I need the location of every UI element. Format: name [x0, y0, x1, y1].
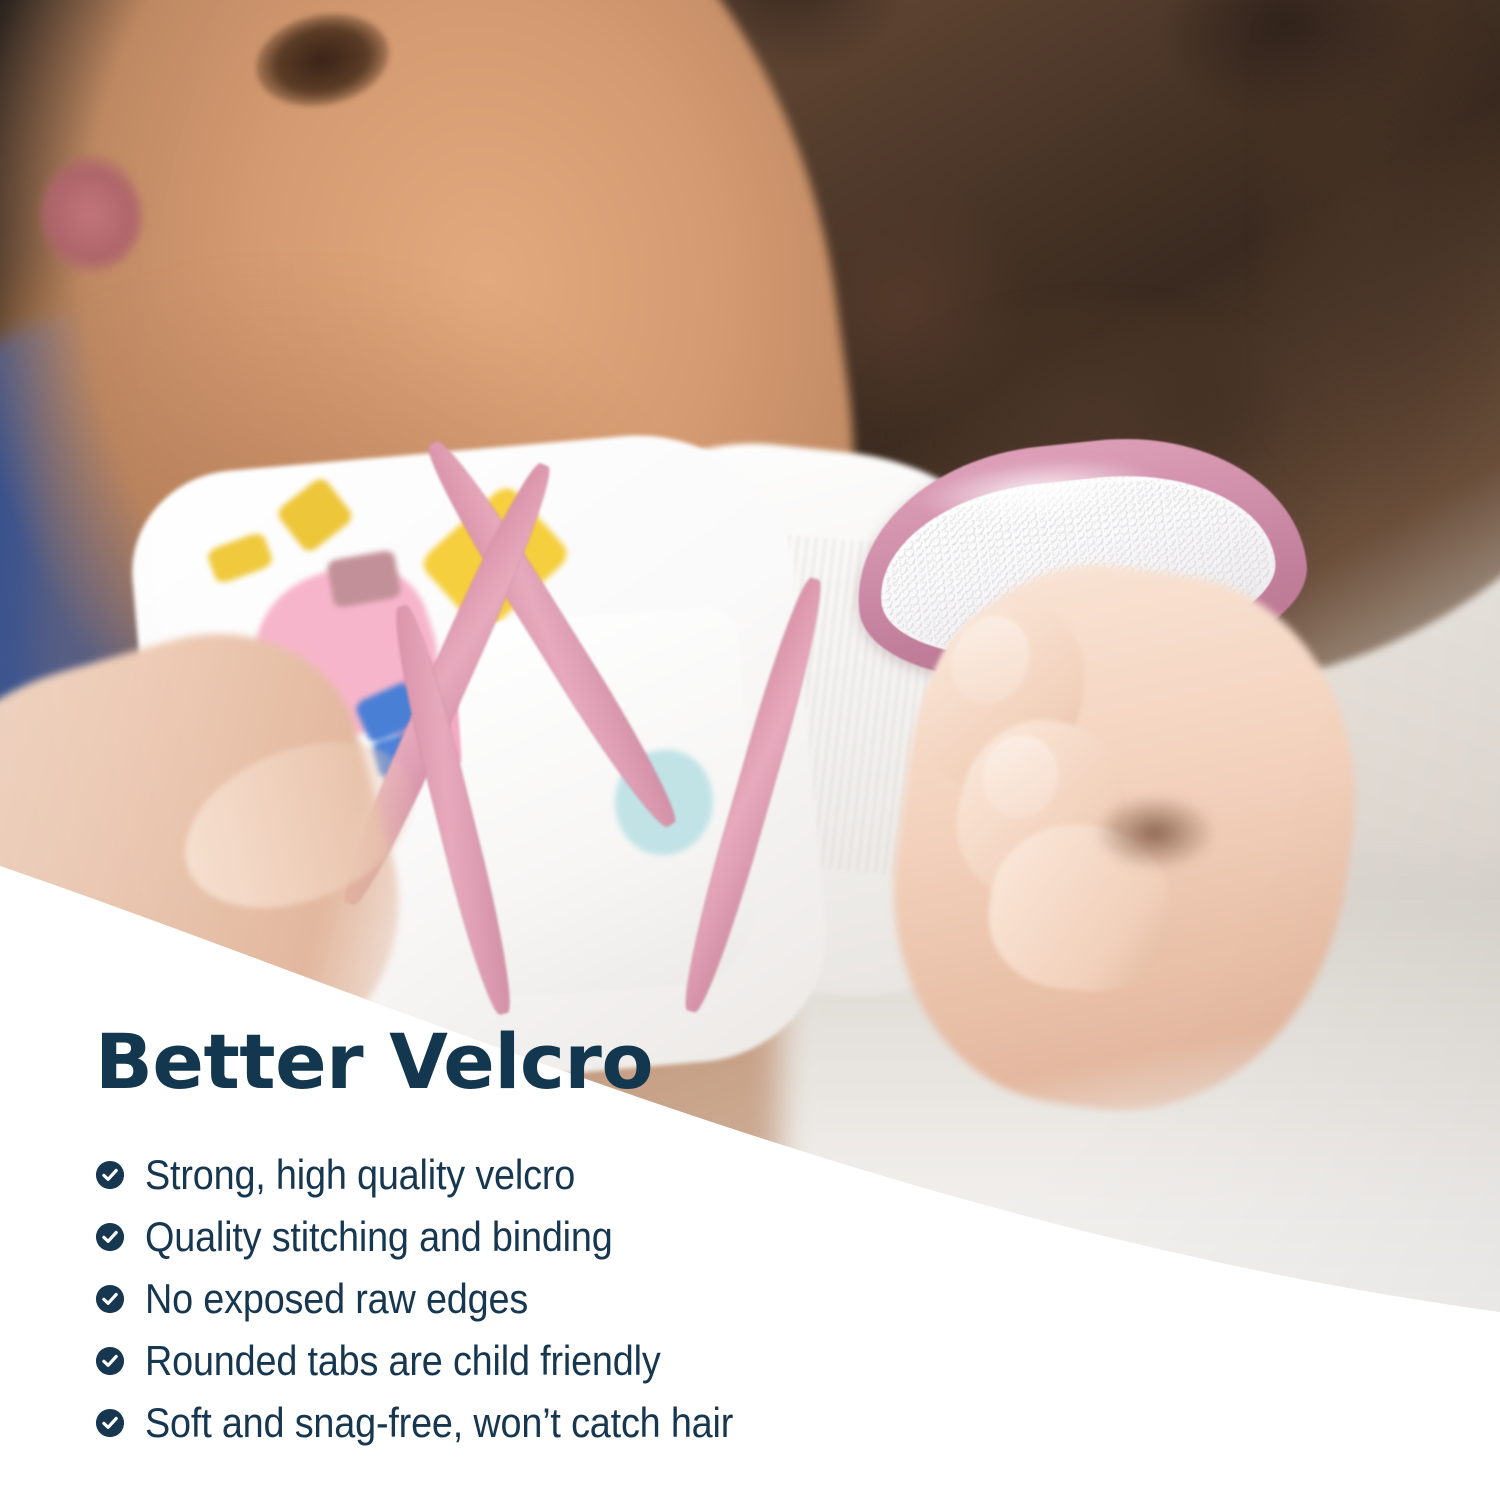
- feature-panel: Better Velcro Strong, high quality velcr…: [95, 1024, 1395, 1454]
- check-circle-icon: [95, 1346, 125, 1376]
- list-item-label: No exposed raw edges: [145, 1278, 528, 1320]
- list-item-label: Rounded tabs are child friendly: [145, 1340, 661, 1382]
- list-item: Strong, high quality velcro: [95, 1144, 1395, 1206]
- feature-list: Strong, high quality velcro Quality stit…: [95, 1144, 1395, 1454]
- list-item-label: Strong, high quality velcro: [145, 1154, 575, 1196]
- check-circle-icon: [95, 1222, 125, 1252]
- list-item: Rounded tabs are child friendly: [95, 1330, 1395, 1392]
- product-feature-graphic: Better Velcro Strong, high quality velcr…: [0, 0, 1500, 1500]
- list-item-label: Quality stitching and binding: [145, 1216, 613, 1258]
- list-item: Soft and snag-free, won’t catch hair: [95, 1392, 1395, 1454]
- list-item: No exposed raw edges: [95, 1268, 1395, 1330]
- page-title: Better Velcro: [95, 1024, 1395, 1100]
- list-item: Quality stitching and binding: [95, 1206, 1395, 1268]
- check-circle-icon: [95, 1408, 125, 1438]
- check-circle-icon: [95, 1284, 125, 1314]
- check-circle-icon: [95, 1160, 125, 1190]
- list-item-label: Soft and snag-free, won’t catch hair: [145, 1402, 733, 1444]
